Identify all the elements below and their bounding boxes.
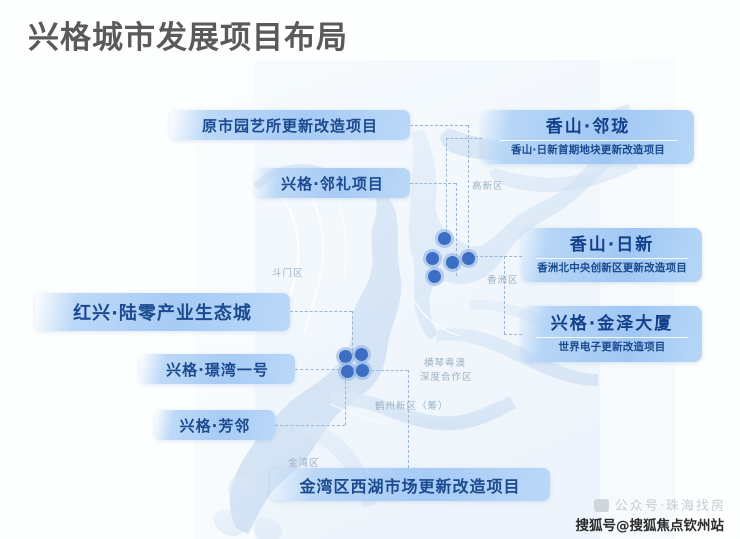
connector-hongxing-h xyxy=(290,311,352,312)
dot-linli-xiangzhou[interactable] xyxy=(428,270,441,283)
card-subtitle: 香山·日新首期地块更新改造项目 xyxy=(511,144,665,157)
connector-jinze-h xyxy=(504,334,522,335)
dot-jingwan-yihao[interactable] xyxy=(355,348,368,361)
label-yuanshi-yuanyisuo[interactable]: 原市园艺所更新改造项目 xyxy=(170,110,410,140)
card-title: 兴格·金泽大厦 xyxy=(551,314,673,334)
connector-linli-h1 xyxy=(410,183,456,184)
connector-hongxing-v xyxy=(352,311,353,356)
map-region-label: 高新区 xyxy=(472,178,504,192)
dot-xihu-shichang[interactable] xyxy=(356,364,369,377)
label-hongxing-luling[interactable]: 红兴·陆零产业生态城 xyxy=(35,293,290,331)
map-region-label: 横琴粤澳 xyxy=(424,355,466,369)
label-xingge-fanglin[interactable]: 兴格·芳邻 xyxy=(155,410,275,440)
connector-rixin-h xyxy=(470,256,522,257)
dot-honxing-luling[interactable] xyxy=(339,350,352,363)
dot-xiangshan-linglong[interactable] xyxy=(438,232,451,245)
connector-jingwan-h xyxy=(295,369,345,370)
card-divider xyxy=(536,258,687,260)
connector-xihu-v xyxy=(408,370,409,468)
dot-xiangshan-rixin[interactable] xyxy=(426,252,439,265)
label-xingge-jingwan[interactable]: 兴格·璟湾一号 xyxy=(140,354,295,384)
card-subtitle: 香洲北中央创新区更新改造项目 xyxy=(537,262,687,275)
card-subtitle: 世界电子更新改造项目 xyxy=(559,341,666,354)
map-region-label: 深度合作区 xyxy=(420,369,473,383)
connector-fanglin-v xyxy=(345,371,346,425)
card-xiangshan-rixin[interactable]: 香山·日新香洲北中央创新区更新改造项目 xyxy=(522,228,702,282)
map-region-label: 斗门区 xyxy=(272,265,304,279)
connector-yuanyisuo-h1 xyxy=(410,125,468,126)
watermark-souhu: 搜狐号@搜狐焦点钦州站 xyxy=(576,514,725,534)
card-xingge-jinze[interactable]: 兴格·金泽大厦世界电子更新改造项目 xyxy=(522,306,702,362)
label-jinwan-xihu[interactable]: 金湾区西湖市场更新改造项目 xyxy=(270,468,550,501)
connector-yuanyisuo-v xyxy=(468,125,469,258)
map-region-label: 香洲区 xyxy=(487,272,519,286)
card-title: 香山·日新 xyxy=(570,235,654,255)
watermark-gongzhonghao: 公众号·珠海找房 xyxy=(594,495,726,514)
card-divider xyxy=(499,140,677,142)
map-region-label: 鹤州新区（筹） xyxy=(375,398,449,412)
card-divider xyxy=(536,337,687,339)
page-title: 兴格城市发展项目布局 xyxy=(28,12,348,57)
poster-root: 高新区斗门区香洲区横琴粤澳深度合作区鹤州新区（筹）金湾区 原市园艺所更新改造项目… xyxy=(0,0,740,539)
connector-linglong-h xyxy=(446,138,482,139)
wechat-icon xyxy=(594,499,609,512)
map-region-label: 金湾区 xyxy=(288,455,320,469)
connector-fanglin-h xyxy=(275,425,345,426)
dot-yuanyi-suo[interactable] xyxy=(462,252,475,265)
connector-jinze-v xyxy=(504,256,505,334)
dot-fanglin[interactable] xyxy=(341,365,354,378)
watermark-gray-text: 公众号·珠海找房 xyxy=(615,499,726,514)
card-xiangshan-linglong[interactable]: 香山·邻珑香山·日新首期地块更新改造项目 xyxy=(482,110,694,164)
card-title: 香山·邻珑 xyxy=(546,117,630,137)
label-xingge-linli[interactable]: 兴格·邻礼项目 xyxy=(255,168,410,198)
connector-linglong-v xyxy=(446,138,447,238)
dot-jinze-dasha[interactable] xyxy=(446,256,459,269)
